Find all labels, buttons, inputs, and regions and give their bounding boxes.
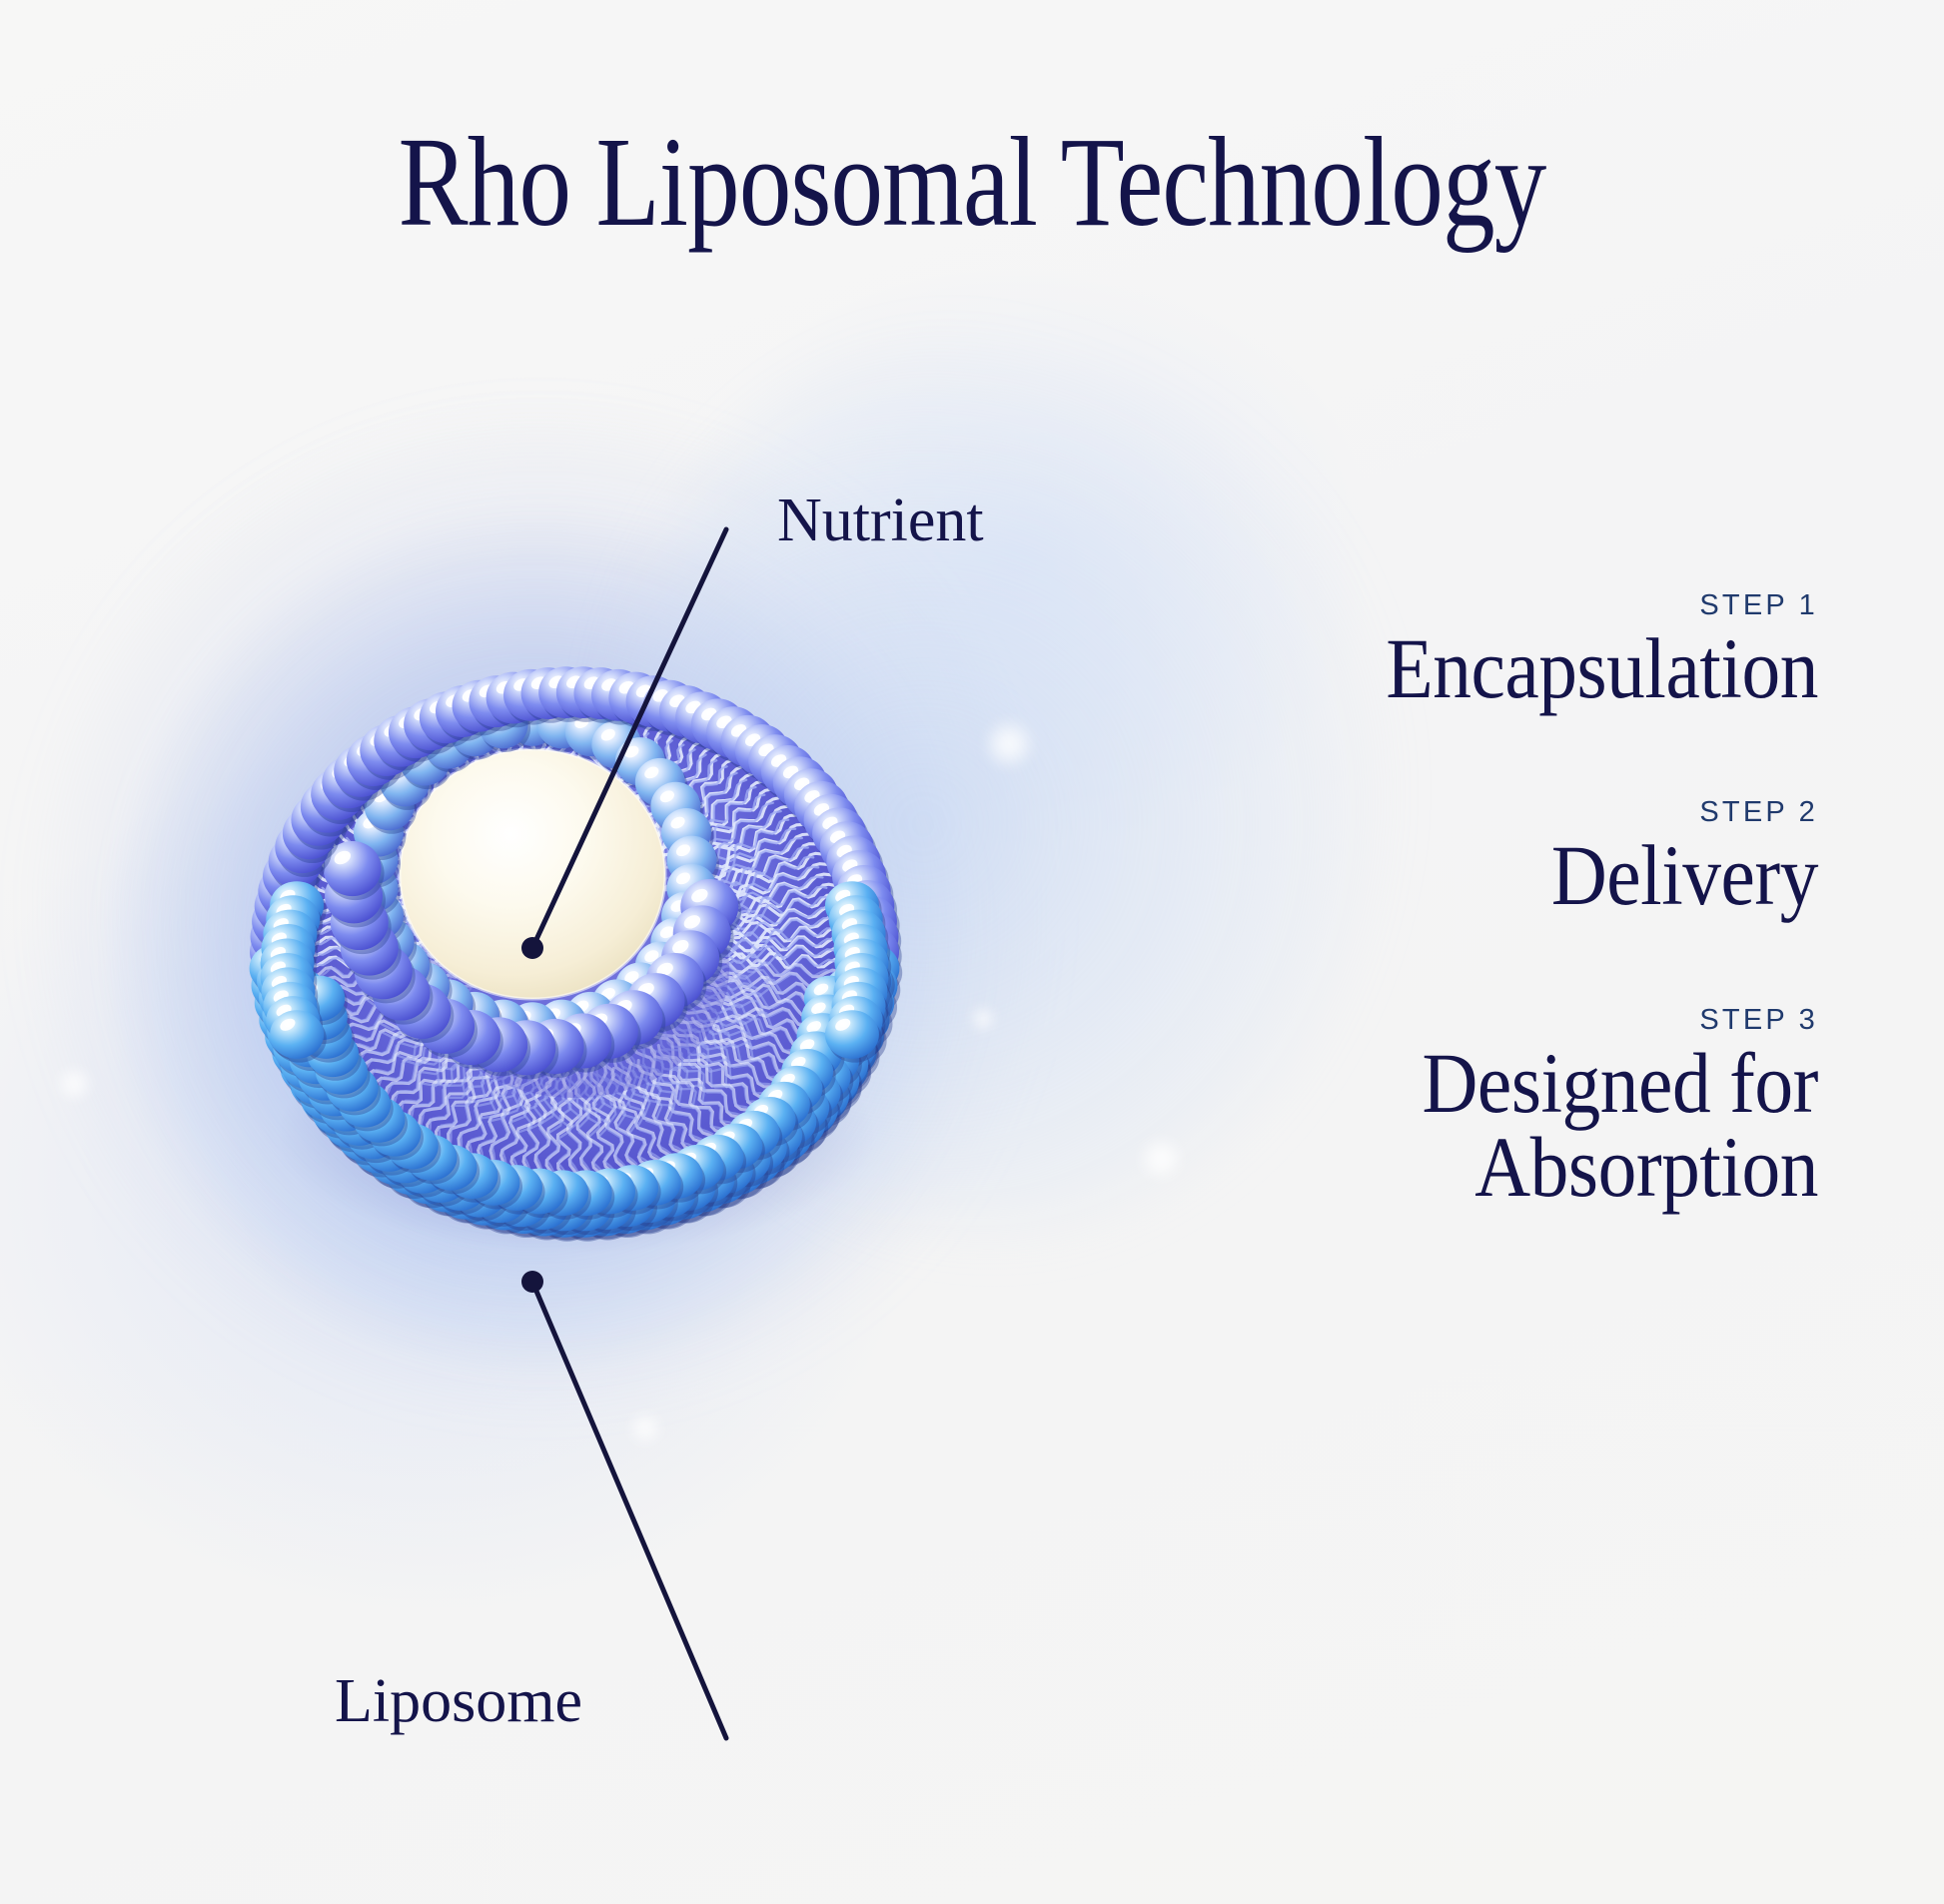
step-item-1: STEP 1 Encapsulation (1179, 589, 1818, 710)
step-title-1: Encapsulation (1243, 626, 1818, 710)
bokeh-spot (1138, 1136, 1184, 1182)
step-title-3: Designed for Absorption (1243, 1041, 1818, 1210)
step-kicker-1: STEP 1 (1179, 589, 1818, 622)
liposome-svg (205, 574, 944, 1314)
infographic-canvas: Rho Liposomal Technology (0, 0, 1944, 1904)
callout-label-nutrient: Nutrient (777, 489, 984, 551)
bokeh-spot (983, 718, 1035, 770)
bokeh-spot (628, 1412, 662, 1445)
step-kicker-2: STEP 2 (1179, 796, 1818, 829)
page-title: Rho Liposomal Technology (175, 118, 1769, 246)
steps-list: STEP 1 Encapsulation STEP 2 Delivery STE… (1179, 589, 1818, 1209)
step-kicker-3: STEP 3 (1179, 1004, 1818, 1037)
liposome-illustration (205, 574, 944, 1314)
step-title-2: Delivery (1243, 833, 1818, 917)
step-item-2: STEP 2 Delivery (1179, 796, 1818, 917)
bokeh-spot (56, 1066, 92, 1102)
bokeh-spot (970, 1006, 996, 1032)
step-item-3: STEP 3 Designed for Absorption (1179, 1004, 1818, 1210)
callout-label-liposome: Liposome (335, 1670, 582, 1732)
